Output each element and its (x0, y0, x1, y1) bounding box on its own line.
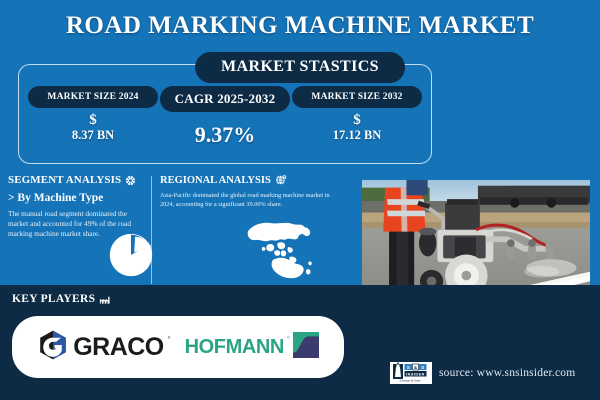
svg-text:Strategy & Stats: Strategy & Stats (399, 379, 421, 383)
sns-insider-lighthouse-logo: S & S INSIDER Strategy & Stats (390, 362, 432, 384)
stat-column-market-size-2024: MARKET SIZE 2024 $ 8.37 BN (28, 86, 158, 142)
hofmann-logo: HOFMANN ° (185, 332, 319, 363)
regional-analysis-body: Asia-Pacific dominated the global road m… (160, 192, 345, 209)
graco-logo: GRACO ° (37, 329, 170, 366)
page-title-text: ROAD MARKING MACHINE MARKET (66, 12, 534, 39)
svg-text:S: S (421, 365, 424, 370)
factory-icon (99, 294, 110, 305)
pie-chart-icon (108, 232, 154, 278)
source-attribution: S & S INSIDER Strategy & Stats source: w… (390, 362, 575, 384)
graco-trademark: ° (168, 335, 171, 343)
regional-analysis-heading-text: REGIONAL ANALYSIS (160, 175, 271, 186)
amount-2032: 17.12 BN (333, 129, 382, 142)
stat-pill-cagr: CAGR 2025-2032 (160, 86, 290, 112)
stat-pill-market-size-2032: MARKET SIZE 2032 (292, 86, 422, 108)
stat-pill-market-size-2024: MARKET SIZE 2024 (28, 86, 158, 108)
stat-value-market-size-2024: $ 8.37 BN (72, 113, 114, 142)
regional-analysis-heading: REGIONAL ANALYSIS (160, 174, 350, 186)
svg-text:S: S (407, 365, 410, 370)
segment-analysis-section: SEGMENT ANALYSIS > By Machine Type The m… (8, 174, 150, 239)
key-players-logo-card: GRACO ° HOFMANN ° (12, 316, 344, 378)
regional-analysis-section: REGIONAL ANALYSIS Asia-Pacific dominated… (160, 174, 350, 209)
market-statistics-badge: MARKET STASTICS (195, 52, 405, 83)
stat-value-cagr: 9.37% (195, 123, 256, 146)
asia-pacific-map-icon (232, 212, 328, 284)
globe-icon (275, 174, 287, 186)
source-text: source: www.snsinsider.com (439, 367, 575, 379)
hofmann-trademark: ° (287, 335, 290, 343)
key-players-heading-text: KEY PLAYERS (12, 293, 95, 305)
hofmann-wordmark: HOFMANN (185, 336, 284, 359)
hofmann-wave-icon (293, 332, 319, 363)
svg-text:INSIDER: INSIDER (406, 372, 425, 376)
segment-analysis-heading-text: SEGMENT ANALYSIS (8, 174, 121, 186)
amount-2024: 8.37 BN (72, 129, 114, 142)
stat-column-cagr: CAGR 2025-2032 9.37% (160, 86, 290, 146)
currency-symbol-2024: $ (72, 113, 114, 129)
stat-column-market-size-2032: MARKET SIZE 2032 $ 17.12 BN (292, 86, 422, 142)
page-title: ROAD MARKING MACHINE MARKET (0, 12, 600, 40)
graco-wordmark: GRACO (73, 333, 164, 362)
graco-arrow-icon (37, 329, 69, 366)
segment-analysis-subheading: > By Machine Type (8, 192, 150, 204)
globe-gear-icon (125, 175, 136, 186)
key-players-heading: KEY PLAYERS (12, 293, 110, 305)
infographic-canvas: ROAD MARKING MACHINE MARKET MARKET STAST… (0, 0, 600, 400)
currency-symbol-2032: $ (333, 113, 382, 129)
stat-value-market-size-2032: $ 17.12 BN (333, 113, 382, 142)
segment-analysis-heading: SEGMENT ANALYSIS (8, 174, 150, 186)
market-statistics-columns: MARKET SIZE 2024 $ 8.37 BN CAGR 2025-203… (18, 86, 432, 166)
